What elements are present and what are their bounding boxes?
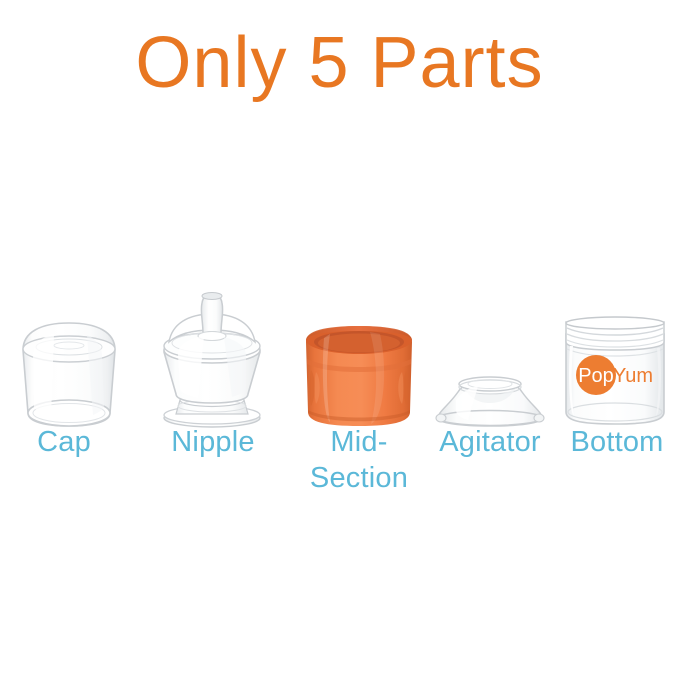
bottle-mid-section-icon — [300, 318, 418, 430]
part-label-mid-section-line1: Mid- — [292, 424, 426, 460]
parts-illustration-row: Pop Yum — [0, 270, 679, 430]
part-label-mid-section: Mid- Section — [292, 424, 426, 497]
logo-mark-text: Pop — [578, 365, 614, 387]
part-image-nipple — [150, 290, 275, 430]
bottle-bottom-jar-icon: Pop Yum — [558, 316, 672, 430]
part-label-bottom: Bottom — [556, 424, 678, 460]
parts-label-row: Cap Nipple Mid- Section Agitator Bottom — [0, 424, 679, 534]
part-image-mid-section — [300, 318, 418, 430]
part-label-mid-section-line2: Section — [292, 460, 426, 496]
part-label-agitator: Agitator — [424, 424, 556, 460]
part-image-agitator — [434, 370, 546, 430]
product-parts-infographic: Only 5 Parts — [0, 0, 679, 679]
bottle-nipple-icon — [150, 290, 275, 430]
bottle-cap-icon — [14, 318, 124, 430]
part-label-nipple: Nipple — [146, 424, 280, 460]
logo-word-text: Yum — [613, 365, 653, 387]
part-image-bottom: Pop Yum — [558, 316, 672, 430]
part-image-cap — [14, 318, 124, 430]
page-title: Only 5 Parts — [0, 24, 679, 103]
bottle-agitator-icon — [434, 370, 546, 430]
part-label-cap: Cap — [6, 424, 122, 460]
